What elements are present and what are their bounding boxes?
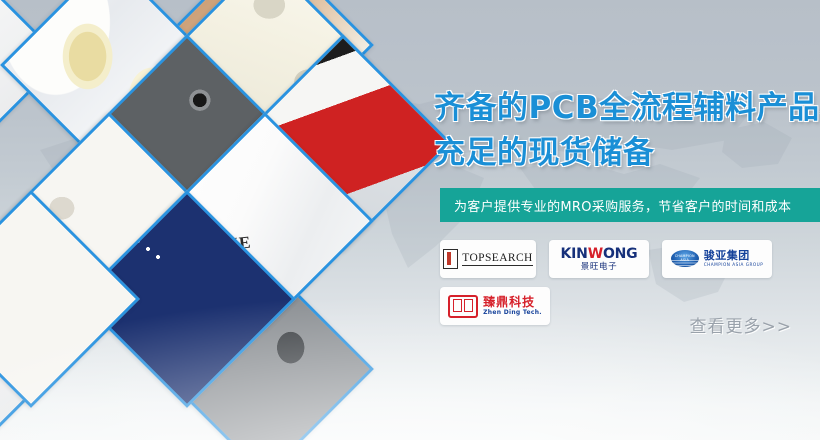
subtitle-bar: 为客户提供专业的MRO采购服务，节省客户的时间和成本 <box>440 188 820 222</box>
champion-asia-logo: 骏亚集团 CHAMPION ASIA GROUP <box>671 250 764 267</box>
champion-asia-english-name: CHAMPION ASIA GROUP <box>704 263 764 267</box>
view-more-link[interactable]: 查看更多>> <box>690 312 793 337</box>
zhen-ding-chinese-name: 臻鼎科技 <box>483 296 542 308</box>
topsearch-logo: TOPSEARCH <box>443 249 533 269</box>
headline-line-2: 充足的现货储备 <box>434 131 820 176</box>
partner-logos-row-1: TOPSEARCH KINWONG 景旺电子 骏亚集团 CHAMPION ASI <box>440 240 820 278</box>
champion-asia-chinese-name: 骏亚集团 <box>704 250 764 261</box>
champion-asia-text: 骏亚集团 CHAMPION ASIA GROUP <box>704 250 764 267</box>
zhen-ding-text: 臻鼎科技 Zhen Ding Tech. <box>483 296 542 316</box>
kinwong-chinese-name: 景旺电子 <box>561 263 638 272</box>
zhen-ding-english-name: Zhen Ding Tech. <box>483 310 542 316</box>
headline-line-1: 齐备的PCB全流程辅料产品、 <box>434 90 820 126</box>
logo-card-champion-asia[interactable]: 骏亚集团 CHAMPION ASIA GROUP <box>662 240 772 278</box>
promo-banner: 齐备的PCB全流程辅料产品、 充足的现货储备 为客户提供专业的MRO采购服务，节… <box>0 0 820 440</box>
banner-content: 齐备的PCB全流程辅料产品、 充足的现货储备 为客户提供专业的MRO采购服务，节… <box>430 0 820 440</box>
kinwong-word-part2: W <box>588 246 603 262</box>
kinwong-logo: KINWONG 景旺电子 <box>561 247 638 272</box>
logo-card-zhen-ding[interactable]: 臻鼎科技 Zhen Ding Tech. <box>440 287 550 325</box>
logo-card-kinwong[interactable]: KINWONG 景旺电子 <box>549 240 649 278</box>
kinwong-word-part3: ONG <box>603 246 638 262</box>
product-collage <box>0 34 444 440</box>
subtitle-text: 为客户提供专业的MRO采购服务，节省客户的时间和成本 <box>440 196 791 215</box>
logo-card-topsearch[interactable]: TOPSEARCH <box>440 240 536 278</box>
zhen-ding-mark-icon <box>448 295 478 318</box>
kinwong-wordmark: KINWONG <box>561 247 638 261</box>
globe-icon <box>671 250 699 267</box>
topsearch-wordmark: TOPSEARCH <box>462 252 533 266</box>
zhen-ding-logo: 臻鼎科技 Zhen Ding Tech. <box>448 295 542 318</box>
headline: 齐备的PCB全流程辅料产品、 充足的现货储备 <box>434 86 820 176</box>
topsearch-mark-icon <box>443 249 458 269</box>
kinwong-word-part1: KIN <box>561 246 588 262</box>
